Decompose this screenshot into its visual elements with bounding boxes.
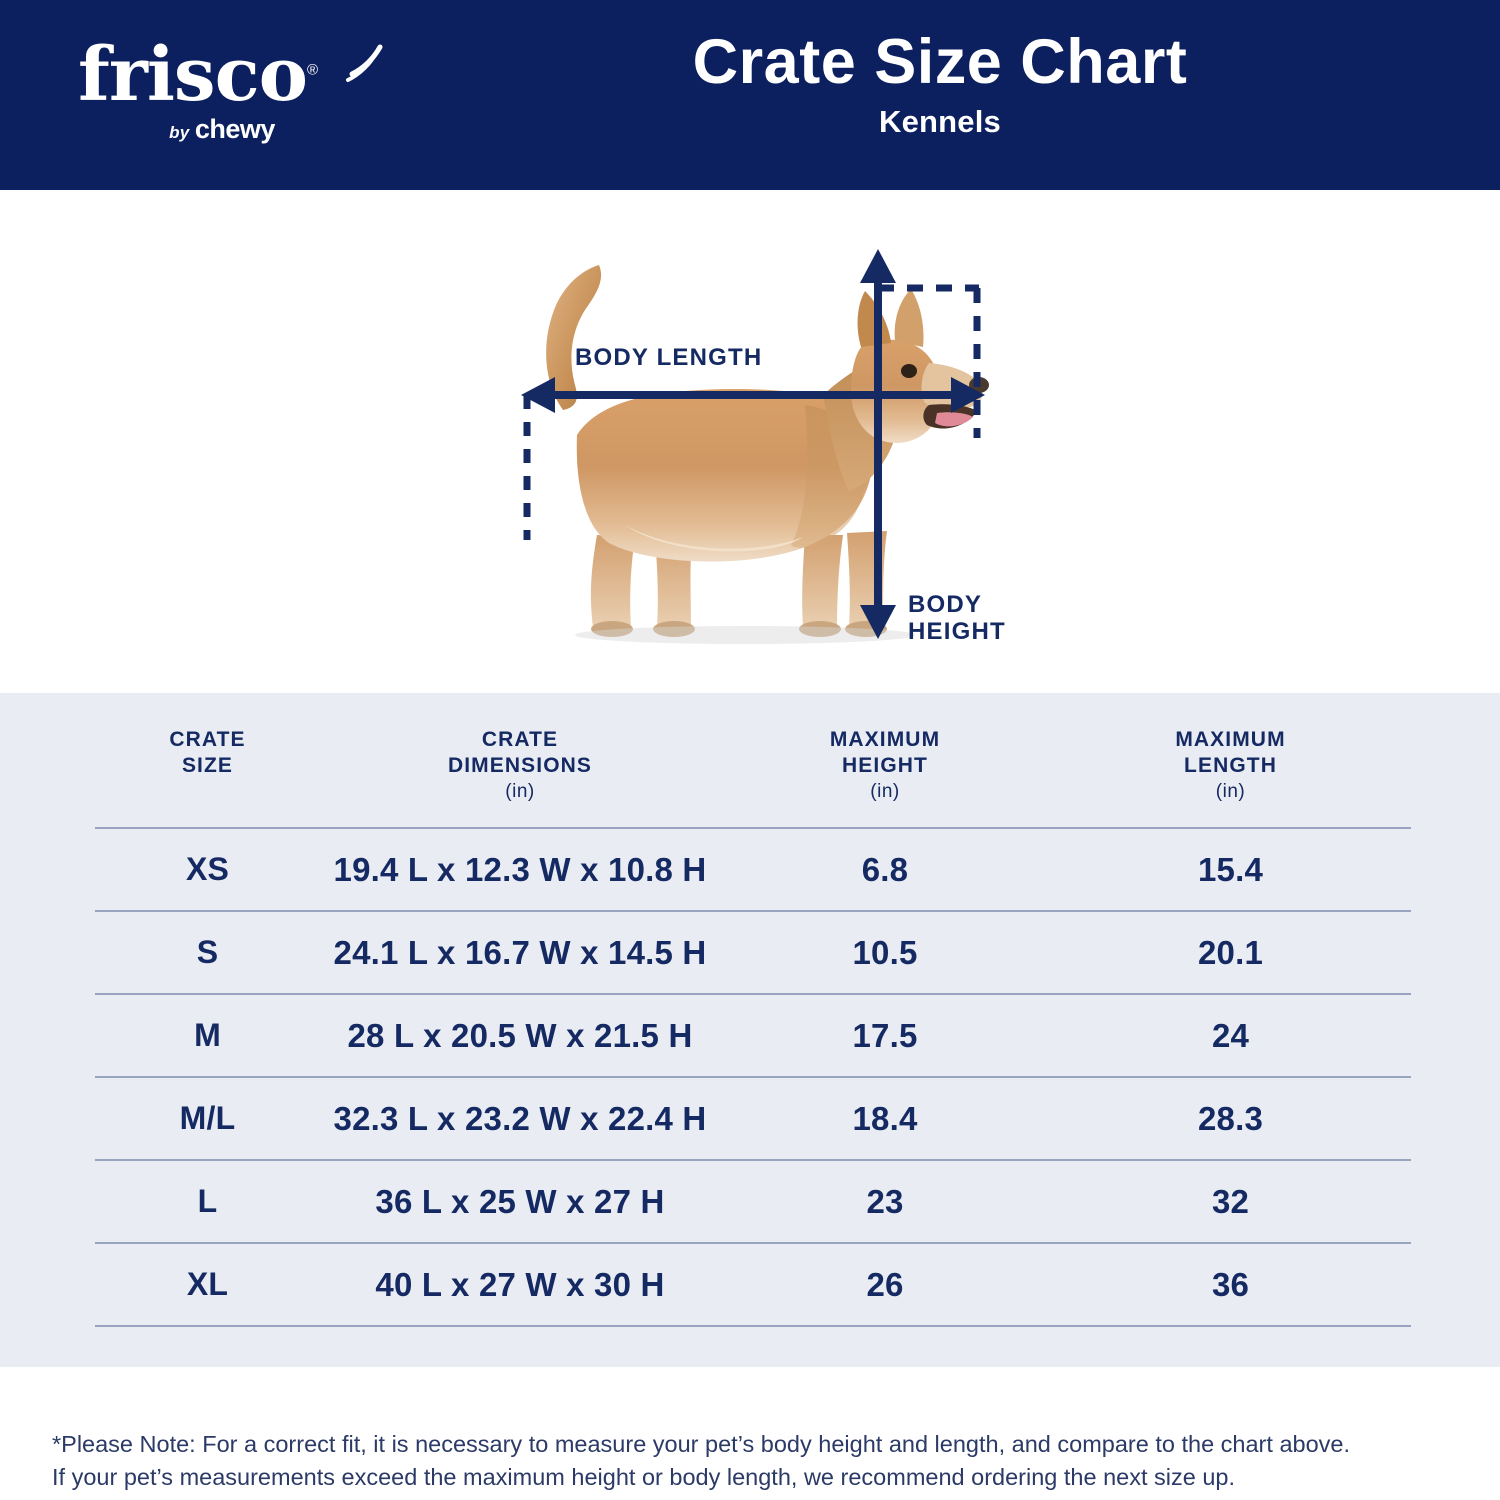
logo-wordmark-text: frisco: [78, 32, 307, 118]
header-line-2: HEIGHT: [842, 754, 928, 777]
body-height-label-line2: HEIGHT: [908, 619, 1006, 646]
crate-size-table: CRATE SIZE CRATE DIMENSIONS (in) MAXIMUM…: [95, 693, 1411, 1327]
header-line-2: LENGTH: [1184, 754, 1277, 777]
cell-crate-dimensions: 24.1 L x 16.7 W x 14.5 H: [320, 911, 720, 994]
cell-maximum-length: 15.4: [1050, 828, 1411, 911]
illustration-section: BODY LENGTH BODY HEIGHT: [0, 190, 1500, 693]
logo-by-text: by: [169, 123, 189, 142]
footnote-line-1: *Please Note: For a correct fit, it is n…: [52, 1428, 1452, 1461]
logo-wordmark: frisco®: [72, 38, 372, 112]
table-row: M 28 L x 20.5 W x 21.5 H 17.5 24: [95, 994, 1411, 1077]
table-row: XS 19.4 L x 12.3 W x 10.8 H 6.8 15.4: [95, 828, 1411, 911]
cell-maximum-length: 28.3: [1050, 1077, 1411, 1160]
cell-crate-dimensions: 19.4 L x 12.3 W x 10.8 H: [320, 828, 720, 911]
cell-maximum-height: 6.8: [720, 828, 1050, 911]
dog-measurement-diagram: BODY LENGTH BODY HEIGHT: [505, 235, 1025, 655]
frisco-by-chewy-logo: frisco® by chewy: [72, 38, 372, 158]
table-row: L 36 L x 25 W x 27 H 23 32: [95, 1160, 1411, 1243]
cell-maximum-length: 36: [1050, 1243, 1411, 1326]
table-row: M/L 32.3 L x 23.2 W x 22.4 H 18.4 28.3: [95, 1077, 1411, 1160]
page-title: Crate Size Chart: [400, 28, 1480, 96]
title-block: Crate Size Chart Kennels: [400, 28, 1480, 140]
header-line-1: CRATE: [482, 728, 558, 751]
footnote: *Please Note: For a correct fit, it is n…: [52, 1428, 1452, 1495]
size-chart-panel: CRATE SIZE CRATE DIMENSIONS (in) MAXIMUM…: [0, 693, 1500, 1367]
cell-maximum-height: 17.5: [720, 994, 1050, 1077]
cell-maximum-height: 18.4: [720, 1077, 1050, 1160]
page-subtitle: Kennels: [400, 104, 1480, 140]
cell-maximum-height: 10.5: [720, 911, 1050, 994]
body-height-label-line1: BODY: [908, 592, 1006, 619]
cell-maximum-height: 23: [720, 1160, 1050, 1243]
table-header-row: CRATE SIZE CRATE DIMENSIONS (in) MAXIMUM…: [95, 693, 1411, 828]
header-line-1: CRATE: [169, 728, 245, 751]
body-height-arrowhead-top: [860, 249, 896, 283]
header-line-2: SIZE: [182, 754, 233, 777]
cell-crate-size: XL: [95, 1243, 320, 1326]
cell-crate-size: XS: [95, 828, 320, 911]
swoosh-icon: [346, 44, 386, 84]
cell-maximum-height: 26: [720, 1243, 1050, 1326]
cell-crate-size: M/L: [95, 1077, 320, 1160]
cell-crate-dimensions: 28 L x 20.5 W x 21.5 H: [320, 994, 720, 1077]
logo-sublabel: by chewy: [72, 114, 372, 145]
cell-maximum-length: 24: [1050, 994, 1411, 1077]
cell-maximum-length: 20.1: [1050, 911, 1411, 994]
header-band: frisco® by chewy Crate Size Chart Kennel…: [0, 0, 1500, 190]
header-unit: (in): [1050, 780, 1411, 803]
header-line-2: DIMENSIONS: [448, 754, 592, 777]
column-header-maximum-height: MAXIMUM HEIGHT (in): [720, 693, 1050, 828]
cell-crate-dimensions: 36 L x 25 W x 27 H: [320, 1160, 720, 1243]
cell-crate-size: M: [95, 994, 320, 1077]
cell-maximum-length: 32: [1050, 1160, 1411, 1243]
cell-crate-size: L: [95, 1160, 320, 1243]
registered-trademark-icon: ®: [307, 61, 317, 78]
table-row: XL 40 L x 27 W x 30 H 26 36: [95, 1243, 1411, 1326]
column-header-crate-dimensions: CRATE DIMENSIONS (in): [320, 693, 720, 828]
header-unit: (in): [720, 780, 1050, 803]
footnote-line-2: If your pet’s measurements exceed the ma…: [52, 1461, 1452, 1494]
table-row: S 24.1 L x 16.7 W x 14.5 H 10.5 20.1: [95, 911, 1411, 994]
cell-crate-size: S: [95, 911, 320, 994]
body-height-arrowhead-bottom: [860, 605, 896, 639]
body-length-label: BODY LENGTH: [575, 345, 762, 372]
column-header-crate-size: CRATE SIZE: [95, 693, 320, 828]
column-header-maximum-length: MAXIMUM LENGTH (in): [1050, 693, 1411, 828]
header-unit: (in): [320, 780, 720, 803]
body-height-label: BODY HEIGHT: [908, 592, 1006, 646]
cell-crate-dimensions: 40 L x 27 W x 30 H: [320, 1243, 720, 1326]
header-line-1: MAXIMUM: [1175, 728, 1285, 751]
header-line-1: MAXIMUM: [830, 728, 940, 751]
cell-crate-dimensions: 32.3 L x 23.2 W x 22.4 H: [320, 1077, 720, 1160]
logo-chewy-text: chewy: [195, 114, 275, 144]
